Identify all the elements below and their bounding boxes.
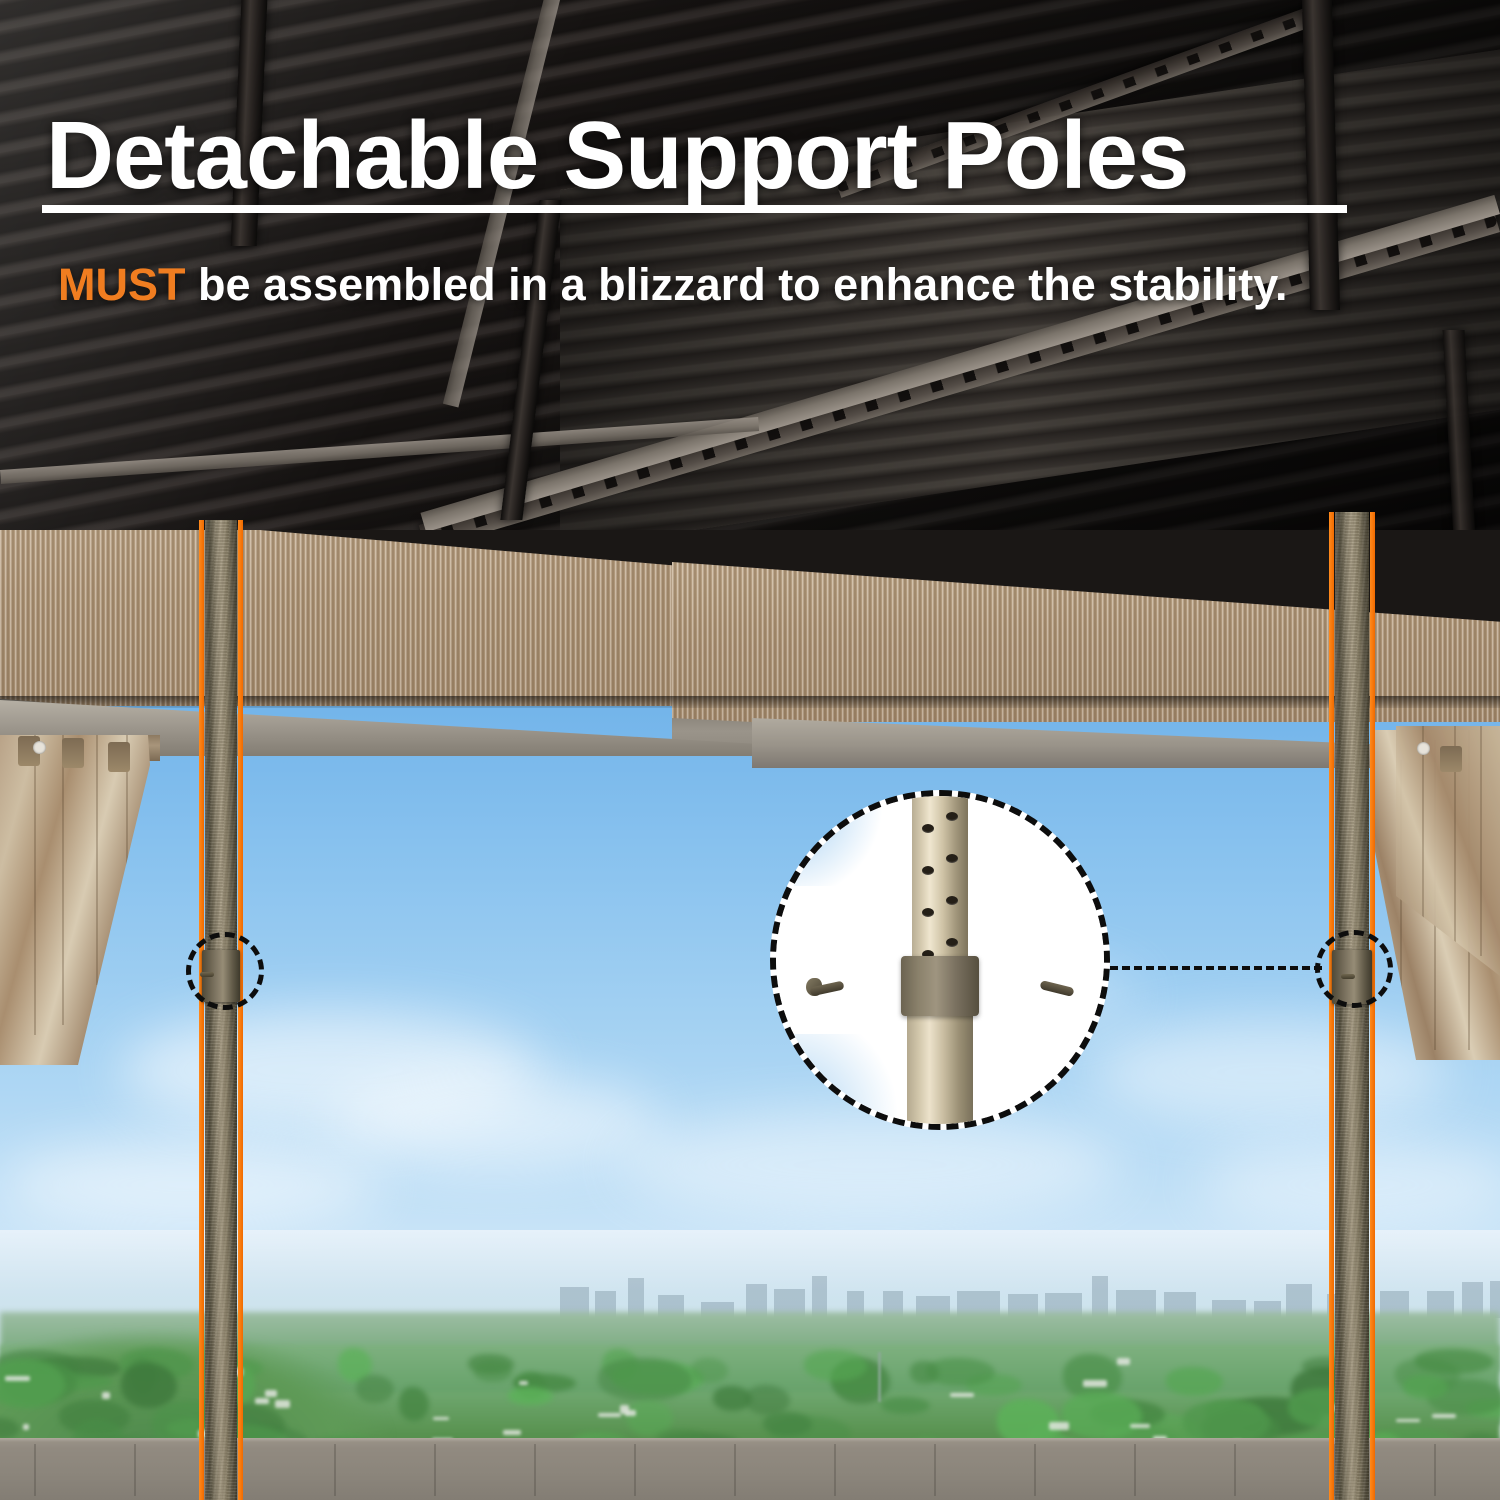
adjustment-hole [946,812,958,821]
parapet-joint [34,1444,36,1496]
tree-canopy [508,1387,553,1405]
tree-canopy [763,1412,813,1436]
parapet-joint [334,1444,336,1496]
cloud [0,1140,380,1230]
curtain-tab [1440,746,1462,772]
pole-accent-stripe [1329,512,1334,1500]
distant-rooftop [1432,1414,1457,1418]
tree-canopy [399,1387,429,1421]
distant-rooftop [519,1381,527,1385]
parapet-joint [1034,1444,1036,1496]
tree-canopy [598,1358,692,1401]
subtitle-rest: be assembled in a blizzard to enhance th… [186,259,1288,310]
adjustment-hole [946,938,958,947]
magnified-lock-pin [1039,980,1074,997]
distant-rooftop [1130,1424,1150,1428]
pole-texture [205,520,237,1500]
tree-canopy [474,1361,512,1382]
distant-rooftop [503,1430,520,1435]
distant-rooftop [1049,1422,1070,1430]
curtain-ring [1417,742,1430,755]
curtain-tab [108,742,130,772]
tree-canopy [1062,1392,1143,1439]
callout-marker-right [1315,930,1393,1008]
subtitle: MUST be assembled in a blizzard to enhan… [58,262,1287,307]
title-underline [42,205,1347,213]
tree-canopy [910,1361,938,1384]
page-title: Detachable Support Poles [46,108,1188,204]
distant-rooftop [255,1398,269,1404]
distant-rooftop [1396,1419,1421,1422]
tree-canopy [1166,1367,1223,1396]
parapet-joint [634,1444,636,1496]
tree-canopy [121,1363,177,1408]
tree-canopy [1403,1375,1448,1399]
parapet-joint [134,1444,136,1496]
adjustment-hole [922,824,934,833]
adjustment-hole [922,908,934,917]
magnifier-sky-bleed [776,796,896,886]
radio-tower [878,1352,881,1402]
pole-accent-stripe [1370,512,1375,1500]
distant-rooftop [433,1417,450,1421]
callout-marker-left [186,932,264,1010]
curtain-ring [33,741,46,754]
magnifier-content [776,796,1104,1124]
distant-rooftop [5,1376,30,1381]
cloud [1090,1020,1450,1125]
magnifier-sky-bleed [776,1034,916,1124]
parapet-joint [734,1444,736,1496]
distant-rooftop [265,1390,276,1397]
callout-connector-line [1110,966,1322,970]
adjustment-hole [946,896,958,905]
parapet-joint [534,1444,536,1496]
distant-rooftop [1083,1380,1108,1387]
distant-rooftop [950,1393,974,1397]
tree-canopy [691,1358,727,1383]
distant-rooftop [598,1413,621,1418]
parapet-joint [1234,1444,1236,1496]
pole-accent-stripe [199,520,204,1500]
distant-rooftop [275,1400,289,1409]
subtitle-emphasis: MUST [58,259,186,310]
distant-rooftop [23,1424,29,1430]
distant-rooftop [102,1392,110,1399]
parapet-joint [934,1444,936,1496]
magnified-locking-collar [901,956,979,1016]
tree-canopy [881,1397,930,1414]
tree-canopy [356,1375,394,1403]
parapet-joint [434,1444,436,1496]
magnifier-callout [770,790,1110,1130]
parapet-joint [1434,1444,1436,1496]
parapet-joint [834,1444,836,1496]
product-feature-image: Detachable Support Poles MUST be assembl… [0,0,1500,1500]
parapet-joint [1134,1444,1136,1496]
adjustment-hole [946,854,958,863]
distant-rooftop [1117,1358,1130,1365]
support-pole-left[interactable] [205,520,237,1500]
cloud [330,1075,660,1170]
tree-canopy [804,1350,867,1381]
distant-rooftop [625,1410,636,1416]
adjustment-hole [922,866,934,875]
cloud [620,1110,1120,1220]
pole-accent-stripe [238,520,243,1500]
fascia-panel-left [0,506,680,706]
curtain-tab [62,738,84,768]
